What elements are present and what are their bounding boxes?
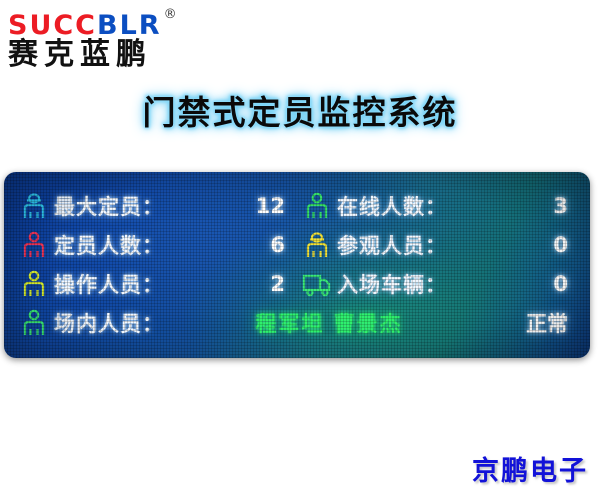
led-label: 参观人员：	[337, 230, 447, 260]
led-cell-left: 最大定员： 12	[14, 186, 297, 225]
led-value: 2	[164, 272, 297, 296]
led-label: 入场车辆：	[337, 269, 447, 299]
led-label: 最大定员：	[54, 191, 164, 221]
led-cell-right: 入场车辆： 0	[297, 264, 580, 303]
led-display-panel: 最大定员： 12 在线人数： 3	[4, 172, 590, 358]
led-label: 定员人数：	[54, 230, 164, 260]
registered-trademark-icon: ®	[164, 7, 177, 22]
person-icon	[14, 308, 54, 338]
led-label: 场内人员：	[54, 308, 164, 338]
onsite-personnel-names: 程军坦 曹景杰	[210, 308, 448, 338]
brand-wordmark-blue: BLR	[97, 10, 162, 41]
led-label: 操作人员：	[54, 269, 164, 299]
table-row: 操作人员： 2 入场车辆： 0	[14, 264, 580, 303]
led-cell-right: 参观人员： 0	[297, 225, 580, 264]
led-cell-left: 操作人员： 2	[14, 264, 297, 303]
person-icon	[14, 230, 54, 260]
brand-wordmark-red: SUCC	[8, 10, 97, 41]
brand-logo: SUCCBLR® 赛克蓝鹏	[8, 6, 268, 74]
table-row: 最大定员： 12 在线人数： 3	[14, 186, 580, 225]
led-cell-left: 定员人数： 6	[14, 225, 297, 264]
person-icon	[297, 191, 337, 221]
table-row: 定员人数： 6 参观人员： 0	[14, 225, 580, 264]
table-row: 场内人员： 程军坦 曹景杰 正常	[14, 303, 580, 342]
footer-company-mark: 京鹏电子	[472, 449, 588, 488]
brand-wordmark: SUCCBLR®	[8, 6, 268, 36]
led-value: 0	[447, 272, 580, 296]
led-rows-container: 最大定员： 12 在线人数： 3	[4, 172, 590, 358]
person-icon	[14, 269, 54, 299]
led-cell-right: 在线人数： 3	[297, 186, 580, 225]
led-value: 0	[447, 233, 580, 257]
truck-icon	[297, 269, 337, 299]
led-label: 在线人数：	[337, 191, 447, 221]
led-value: 6	[164, 233, 297, 257]
led-value: 3	[447, 194, 580, 218]
person-cap-icon	[14, 191, 54, 221]
brand-chinese-name: 赛克蓝鹏	[8, 37, 268, 73]
person-cap-icon	[297, 230, 337, 260]
led-value: 12	[164, 194, 297, 218]
page-title: 门禁式定员监控系统	[0, 86, 600, 134]
led-cell-left: 场内人员：	[14, 303, 210, 342]
status-badge: 正常	[448, 308, 580, 338]
